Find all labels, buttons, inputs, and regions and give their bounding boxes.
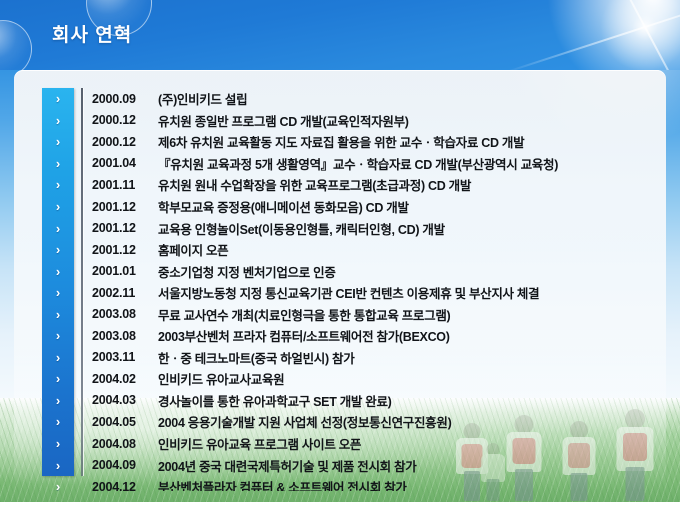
timeline-row: ›2003.082003부산벤처 프라자 컴퓨터/소프트웨어전 참가(BEXCO… — [14, 325, 666, 347]
timeline-row-date: 2001.01 — [92, 264, 154, 278]
timeline-row-date: 2004.12 — [92, 480, 154, 491]
page-title: 회사 연혁 — [52, 20, 132, 47]
timeline-row-date: 2004.05 — [92, 415, 154, 429]
timeline-row-date: 2001.12 — [92, 243, 154, 257]
chevron-right-icon: › — [46, 265, 70, 278]
timeline-row-date: 2003.08 — [92, 307, 154, 321]
timeline-row-description: 교육용 인형놀이Set(이동용인형틀, 캐릭터인형, CD) 개발 — [158, 219, 662, 238]
timeline-row: ›2004.12부산벤처플라자 컴퓨터 & 소프트웨어 전시회 참가 — [14, 476, 666, 491]
content-panel: ›2000.09(주)인비키드 설립›2000.12유치원 종일반 프로그램 C… — [14, 70, 666, 491]
timeline-row-date: 2004.08 — [92, 437, 154, 451]
timeline-row: ›2000.09(주)인비키드 설립 — [14, 88, 666, 110]
timeline-row: ›2000.12제6차 유치원 교육활동 지도 자료집 활용을 위한 교수ㆍ학습… — [14, 131, 666, 153]
chevron-right-icon: › — [46, 351, 70, 364]
timeline-row-description: 『유치원 교육과정 5개 생활영역』교수ㆍ학습자료 CD 개발(부산광역시 교육… — [158, 154, 662, 173]
timeline-row: ›2004.03경사놀이를 통한 유아과학교구 SET 개발 완료) — [14, 390, 666, 412]
chevron-right-icon: › — [46, 415, 70, 428]
sun-flare-icon — [570, 0, 680, 70]
timeline-row-date: 2001.12 — [92, 221, 154, 235]
timeline-row: ›2001.11유치원 원내 수업확장을 위한 교육프로그램(초급과정) CD … — [14, 174, 666, 196]
chevron-right-icon: › — [46, 114, 70, 127]
timeline-row-date: 2004.02 — [92, 372, 154, 386]
slide-header: 회사 연혁 — [0, 0, 680, 70]
timeline-row-description: (주)인비키드 설립 — [158, 89, 662, 108]
timeline-row: ›2000.12유치원 종일반 프로그램 CD 개발(교육인적자원부) — [14, 110, 666, 132]
timeline-row-date: 2003.08 — [92, 329, 154, 343]
timeline-row-description: 유치원 원내 수업확장을 위한 교육프로그램(초급과정) CD 개발 — [158, 175, 662, 194]
timeline-row-description: 인비키드 유아교육 프로그램 사이트 오픈 — [158, 434, 662, 453]
chevron-right-icon: › — [46, 92, 70, 105]
timeline-row-date: 2001.04 — [92, 156, 154, 170]
timeline-row-description: 무료 교사연수 개최(치료인형극을 통한 통합교육 프로그램) — [158, 305, 662, 324]
chevron-right-icon: › — [46, 308, 70, 321]
slide-company-history: 회사 연혁 ›2000.09(주)인비키드 설립›2000.12유치원 종일반 … — [0, 0, 680, 510]
timeline-row-description: 서울지방노동청 지정 통신교육기관 CEI반 컨텐츠 이용제휴 및 부산지사 체… — [158, 283, 662, 302]
timeline-row-date: 2001.12 — [92, 200, 154, 214]
chevron-right-icon: › — [46, 178, 70, 191]
chevron-right-icon: › — [46, 437, 70, 450]
timeline-row: ›2003.11한ㆍ중 테크노마트(중국 하얼빈시) 참가 — [14, 347, 666, 369]
timeline-row-description: 부산벤처플라자 컴퓨터 & 소프트웨어 전시회 참가 — [158, 477, 662, 491]
timeline-rows: ›2000.09(주)인비키드 설립›2000.12유치원 종일반 프로그램 C… — [14, 88, 666, 491]
chevron-right-icon: › — [46, 372, 70, 385]
bottom-white-strip — [0, 502, 680, 510]
timeline-row-date: 2004.09 — [92, 458, 154, 472]
timeline-row-description: 유치원 종일반 프로그램 CD 개발(교육인적자원부) — [158, 111, 662, 130]
timeline-row: ›2001.12학부모교육 증정용(애니메이션 동화모음) CD 개발 — [14, 196, 666, 218]
chevron-right-icon: › — [46, 243, 70, 256]
chevron-right-icon: › — [46, 394, 70, 407]
timeline-row-date: 2004.03 — [92, 393, 154, 407]
timeline-row-date: 2000.09 — [92, 92, 154, 106]
timeline-row-date: 2002.11 — [92, 286, 154, 300]
timeline-row-description: 한ㆍ중 테크노마트(중국 하얼빈시) 참가 — [158, 348, 662, 367]
timeline-row: ›2001.01중소기업청 지정 벤처기업으로 인증 — [14, 260, 666, 282]
timeline-row-description: 학부모교육 증정용(애니메이션 동화모음) CD 개발 — [158, 197, 662, 216]
timeline-row: ›2004.052004 응용기술개발 지원 사업체 선정(정보통신연구진흥원) — [14, 411, 666, 433]
timeline-row: ›2001.12교육용 인형놀이Set(이동용인형틀, 캐릭터인형, CD) 개… — [14, 217, 666, 239]
timeline-row-description: 2004 응용기술개발 지원 사업체 선정(정보통신연구진흥원) — [158, 412, 662, 431]
timeline-row-description: 제6차 유치원 교육활동 지도 자료집 활용을 위한 교수ㆍ학습자료 CD 개발 — [158, 132, 662, 151]
chevron-right-icon: › — [46, 480, 70, 491]
chevron-right-icon: › — [46, 135, 70, 148]
timeline-row: ›2004.08인비키드 유아교육 프로그램 사이트 오픈 — [14, 433, 666, 455]
chevron-right-icon: › — [46, 200, 70, 213]
timeline-row-date: 2003.11 — [92, 350, 154, 364]
timeline-row-description: 2004년 중국 대련국제특허기술 및 제품 전시회 참가 — [158, 456, 662, 475]
chevron-right-icon: › — [46, 459, 70, 472]
timeline-row-date: 2000.12 — [92, 113, 154, 127]
timeline-row-description: 홈페이지 오픈 — [158, 240, 662, 259]
chevron-right-icon: › — [46, 157, 70, 170]
timeline-row-description: 중소기업청 지정 벤처기업으로 인증 — [158, 262, 662, 281]
timeline-row: ›2004.02인비키드 유아교사교육원 — [14, 368, 666, 390]
timeline-row: ›2002.11서울지방노동청 지정 통신교육기관 CEI반 컨텐츠 이용제휴 … — [14, 282, 666, 304]
bubble-icon — [0, 20, 32, 70]
timeline-list: ›2000.09(주)인비키드 설립›2000.12유치원 종일반 프로그램 C… — [14, 70, 666, 491]
timeline-row-date: 2001.11 — [92, 178, 154, 192]
chevron-right-icon: › — [46, 286, 70, 299]
timeline-row-date: 2000.12 — [92, 135, 154, 149]
timeline-row-description: 인비키드 유아교사교육원 — [158, 369, 662, 388]
chevron-right-icon: › — [46, 329, 70, 342]
timeline-row: ›2004.092004년 중국 대련국제특허기술 및 제품 전시회 참가 — [14, 454, 666, 476]
timeline-row: ›2003.08무료 교사연수 개최(치료인형극을 통한 통합교육 프로그램) — [14, 303, 666, 325]
chevron-right-icon: › — [46, 222, 70, 235]
timeline-row-description: 경사놀이를 통한 유아과학교구 SET 개발 완료) — [158, 391, 662, 410]
timeline-row-description: 2003부산벤처 프라자 컴퓨터/소프트웨어전 참가(BEXCO) — [158, 326, 662, 345]
timeline-row: ›2001.04『유치원 교육과정 5개 생활영역』교수ㆍ학습자료 CD 개발(… — [14, 153, 666, 175]
timeline-row: ›2001.12홈페이지 오픈 — [14, 239, 666, 261]
